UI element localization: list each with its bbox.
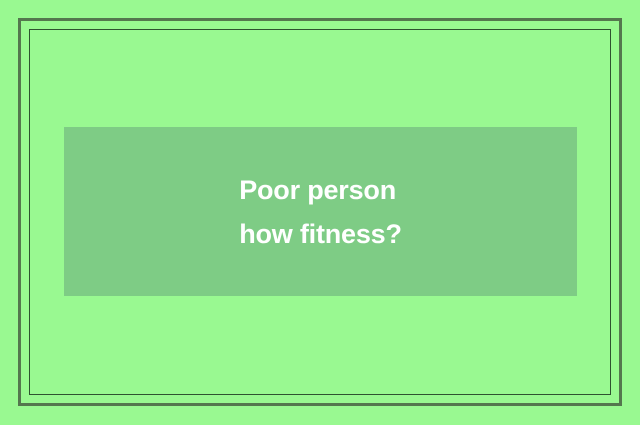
slide-canvas: Poor person how fitness? (0, 0, 640, 425)
headline-line-1: Poor person (239, 168, 402, 212)
headline-block: Poor person how fitness? (239, 168, 402, 256)
content-panel: Poor person how fitness? (64, 127, 577, 296)
headline-line-2: how fitness? (239, 212, 402, 256)
